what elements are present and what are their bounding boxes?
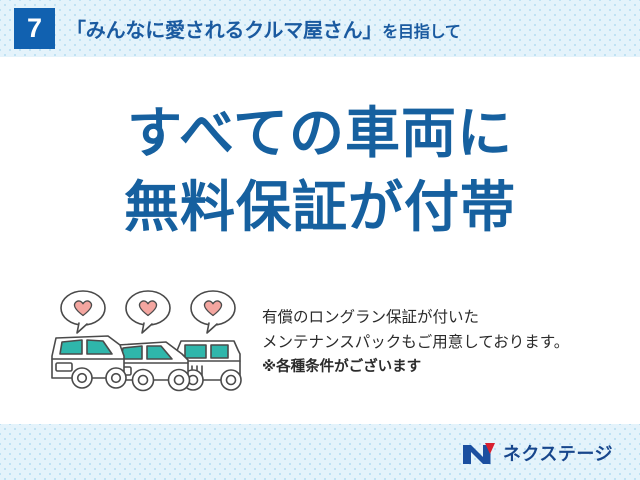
section-number-badge: 7	[14, 8, 55, 49]
promo-slide: 7 「みんなに愛されるクルマ屋さん」 を目指して すべての車両に 無料保証が付帯	[0, 0, 640, 480]
footer-band: ネクステージ	[0, 424, 640, 480]
header-band: 7 「みんなに愛されるクルマ屋さん」 を目指して	[0, 0, 640, 57]
brand-name: ネクステージ	[503, 440, 613, 466]
description-line-2: メンテナンスパックもご用意しております。	[262, 330, 569, 355]
headline-line-2: 無料保証が付帯	[0, 170, 640, 244]
content-row: 有償のロングラン保証が付いた メンテナンスパックもご用意しております。 ※各種条…	[0, 288, 640, 406]
car-wagon-left	[52, 336, 126, 388]
brand-logo: ネクステージ	[462, 440, 613, 466]
header-title-main: 「みんなに愛されるクルマ屋さん」	[66, 14, 382, 43]
nextage-n-logo-icon	[462, 441, 496, 465]
headline-block: すべての車両に 無料保証が付帯	[0, 96, 640, 244]
header-title-suffix: を目指して	[382, 18, 461, 42]
heart-speech-bubble-2	[126, 291, 170, 333]
heart-speech-bubble-3	[191, 291, 235, 333]
description-line-1: 有償のロングラン保証が付いた	[262, 305, 569, 330]
three-cars-with-heart-speech-bubbles-icon	[48, 288, 248, 400]
description-block: 有償のロングラン保証が付いた メンテナンスパックもご用意しております。 ※各種条…	[262, 305, 569, 380]
headline-line-1: すべての車両に	[0, 96, 640, 170]
header-title: 「みんなに愛されるクルマ屋さん」 を目指して	[66, 14, 461, 43]
description-note: ※各種条件がございます	[262, 355, 569, 380]
heart-speech-bubble-1	[61, 291, 105, 333]
